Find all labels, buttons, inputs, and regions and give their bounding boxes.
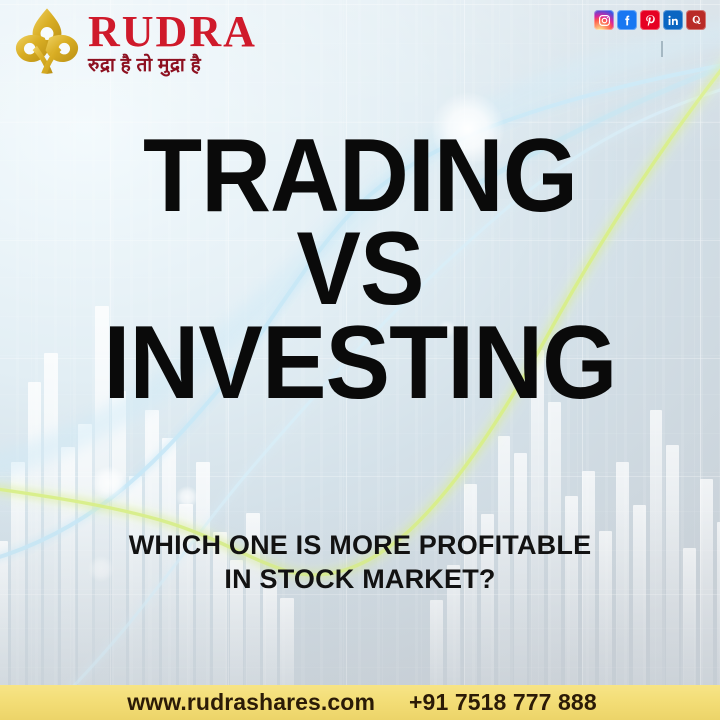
headline-line-investing: INVESTING [25,319,695,408]
headline-line-vs: VS [25,225,695,314]
headline-line-trading: TRADING [25,132,695,221]
subheadline: WHICH ONE IS MORE PROFITABLE IN STOCK MA… [120,528,600,596]
linkedin-icon[interactable] [663,10,683,30]
footer-phone-number[interactable]: +91 7518 777 888 [409,689,597,716]
brand-tagline: रुद्रा है तो मुद्रा है [88,56,257,75]
rudra-trefoil-logo-icon [10,4,84,76]
text-cursor-artifact [661,41,663,57]
quora-icon[interactable] [686,10,706,30]
brand-name: RUDRA [88,10,257,54]
facebook-icon[interactable] [617,10,637,30]
poster-canvas: RUDRA रुद्रा है तो मुद्रा है [0,0,720,720]
header: RUDRA रुद्रा है तो मुद्रा है [0,0,720,88]
footer-contact-bar: www.rudrashares.com +91 7518 777 888 [0,685,720,720]
pinterest-icon[interactable] [640,10,660,30]
headline-block: TRADING VS INVESTING [0,132,720,408]
footer-website-link[interactable]: www.rudrashares.com [127,689,375,716]
brand-lockup[interactable]: RUDRA रुद्रा है तो मुद्रा है [10,4,257,76]
brand-text: RUDRA रुद्रा है तो मुद्रा है [88,6,257,75]
instagram-icon[interactable] [594,10,614,30]
social-icon-bar [594,10,706,30]
